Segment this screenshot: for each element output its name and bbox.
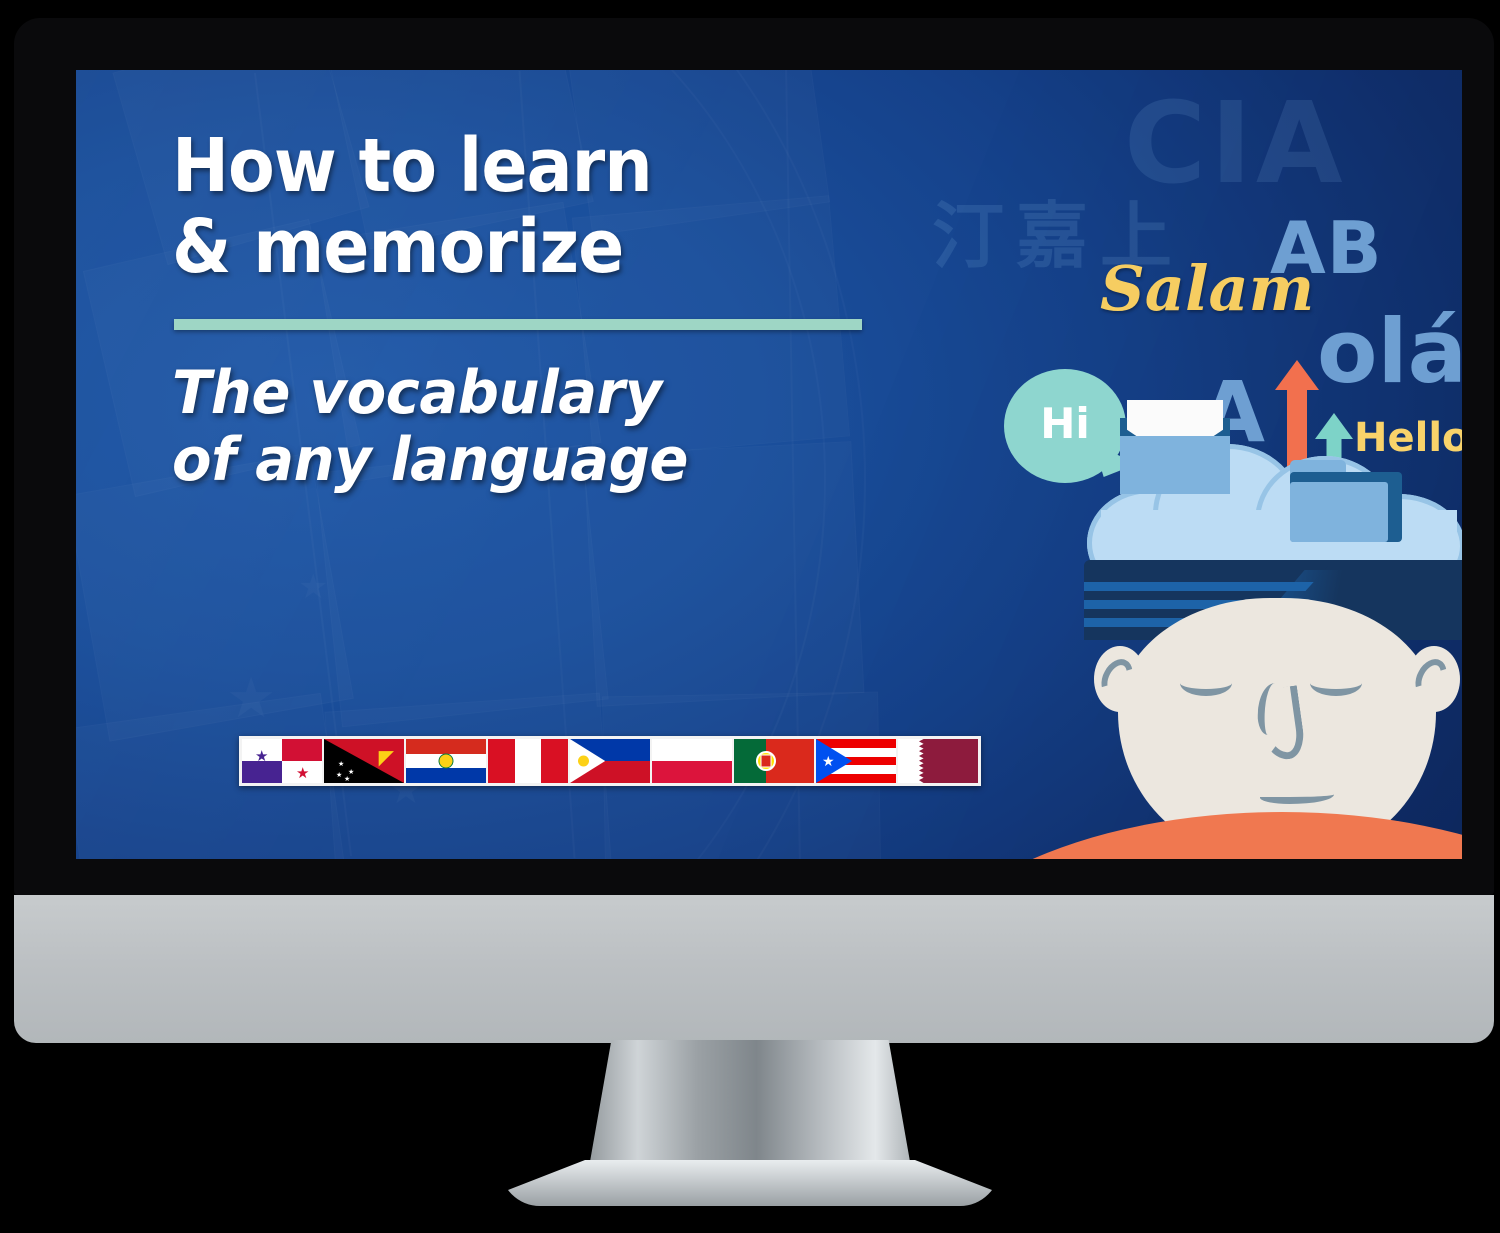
title-divider (174, 319, 862, 330)
page-title: How to learn & memorize (172, 130, 853, 283)
monitor-stand-base (500, 1160, 1000, 1206)
envelope-icon (1120, 418, 1230, 494)
flag-strip: ★★ ◤ ★ ★ ★ ★ (239, 736, 981, 786)
title-line-2: & memorize (172, 211, 853, 284)
illustration: CIA 汀嘉上 AB Salam olá A Hello Hi (912, 70, 1462, 859)
monitor-screen: ★ ★ ★ How to learn & memorize The vocabu… (76, 70, 1462, 859)
flag-papua-new-guinea-icon: ◤ ★ ★ ★ ★ (324, 739, 404, 783)
monitor-bezel: ★ ★ ★ How to learn & memorize The vocabu… (14, 18, 1494, 895)
flag-philippines-icon (570, 739, 650, 783)
shirt (912, 812, 1462, 859)
flag-paraguay-icon (406, 739, 486, 783)
person-illustration (1062, 420, 1462, 859)
background-acronym-text: CIA (1124, 88, 1347, 200)
flag-panama-icon: ★★ (242, 739, 322, 783)
title-line-1: How to learn (172, 123, 652, 209)
slide-text-block: How to learn & memorize The vocabulary o… (172, 130, 912, 494)
page-subtitle: The vocabulary of any language (172, 360, 882, 494)
subtitle-line-2: of any language (172, 427, 882, 494)
eye-left-closed (1180, 670, 1232, 696)
folder-icon (1290, 460, 1402, 542)
ear-right (1408, 646, 1460, 712)
eye-right-closed (1310, 670, 1362, 696)
monitor-chin (14, 895, 1494, 1043)
subtitle-line-1: The vocabulary (172, 358, 662, 428)
monitor-device: ★ ★ ★ How to learn & memorize The vocabu… (0, 0, 1500, 1233)
flag-puerto-rico-icon: ★ (816, 739, 896, 783)
ear-left (1094, 646, 1146, 712)
greeting-word-ola: olá (1317, 308, 1462, 396)
flag-peru-icon (488, 739, 568, 783)
greeting-word-salam: Salam (1100, 258, 1314, 320)
flag-portugal-icon (734, 739, 814, 783)
flag-poland-icon (652, 739, 732, 783)
